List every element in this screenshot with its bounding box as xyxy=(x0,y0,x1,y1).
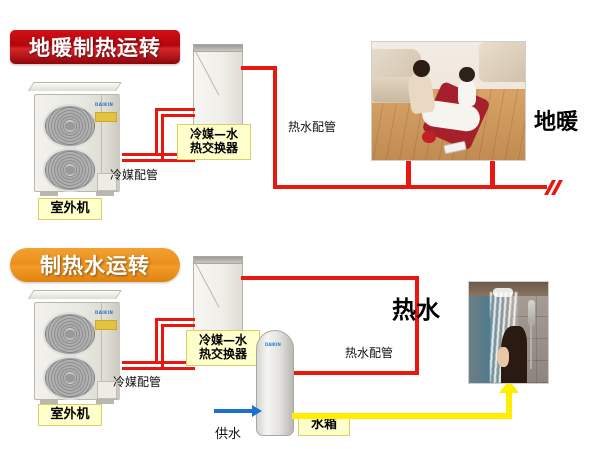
floor-heating-riser-left xyxy=(406,160,411,187)
water-tank-label-text: 水箱 xyxy=(311,418,337,433)
fan-grille-upper xyxy=(43,104,97,148)
child-body xyxy=(458,80,476,106)
photo-hot-water-shower xyxy=(468,281,549,384)
supply-water-arrow xyxy=(252,405,262,417)
hot-water-delivery-main xyxy=(292,413,512,419)
outdoor-unit-top-panel xyxy=(28,82,122,91)
shower-hose xyxy=(530,322,532,368)
label-outdoor-unit-1: 室外机 xyxy=(38,198,102,220)
unit-badge xyxy=(95,112,117,122)
refrigerant-pipe-2-horizontal-a xyxy=(122,361,195,364)
outdoor-unit-label-text: 室外机 xyxy=(50,408,89,423)
refrigerant-pipe-1-riser-a xyxy=(155,108,158,156)
hot-water-delivery-riser xyxy=(506,392,512,419)
unit-foot-right xyxy=(96,192,114,196)
brand-logo: DAIKIN xyxy=(265,342,281,347)
label-floor-heating-output: 地暖 xyxy=(534,104,578,136)
label-supply-water: 供水 xyxy=(215,423,241,442)
outdoor-unit-floor-heating: DAIKIN xyxy=(28,88,120,192)
refrigerant-pipe-2-top-b xyxy=(161,324,195,327)
hvac-operation-diagram: 地暖制热运转 DAIKIN 室外机 DAIKIN 冷媒配管 冷媒—水 热交换器 xyxy=(0,0,600,449)
supply-water-line xyxy=(214,409,254,413)
outdoor-unit-label-text: 室外机 xyxy=(50,202,89,217)
label-outdoor-unit-2: 室外机 xyxy=(38,404,102,426)
fan-grille-upper xyxy=(43,312,97,356)
outdoor-unit-body: DAIKIN xyxy=(34,302,120,400)
heat-exchanger-line2: 热交换器 xyxy=(190,142,238,156)
hot-water-pipe-1-top xyxy=(241,66,277,70)
label-heat-exchanger-1: 冷媒—水 热交换器 xyxy=(177,124,251,160)
photo-floor-heating-living-room xyxy=(371,41,526,161)
fan-grille-lower xyxy=(43,148,97,192)
refrigerant-pipe-1-top-a xyxy=(155,108,195,111)
banner-hot-water: 制热水运转 xyxy=(10,248,180,282)
label-heat-exchanger-2: 冷媒—水 热交换器 xyxy=(186,330,260,366)
refrigerant-pipe-1-top-b xyxy=(161,114,195,117)
hot-water-pipe-2-top xyxy=(241,276,419,280)
refrigerant-pipe-1-riser-b xyxy=(161,114,164,162)
child-head xyxy=(459,67,474,82)
label-refrigerant-pipe-1: 冷媒配管 xyxy=(110,166,158,183)
refrigerant-pipe-2-top-a xyxy=(155,318,195,321)
outdoor-unit-hot-water: DAIKIN xyxy=(28,296,120,400)
hot-water-pipe-2-to-tank xyxy=(289,371,419,375)
label-hot-water-pipe-1: 热水配管 xyxy=(288,118,336,135)
refrigerant-pipe-2-riser-a xyxy=(155,318,158,364)
floor-heating-riser-right xyxy=(490,160,495,187)
unit-badge xyxy=(95,320,117,330)
unit-foot-left xyxy=(40,192,58,196)
person-face xyxy=(497,347,509,367)
brand-logo: DAIKIN xyxy=(95,310,113,315)
fan-grille-lower xyxy=(43,356,97,400)
outdoor-unit-top-panel xyxy=(28,290,122,299)
brand-logo: DAIKIN xyxy=(95,102,113,107)
pipe-break-symbol xyxy=(546,180,566,196)
heat-exchanger-line1: 冷媒—水 xyxy=(199,334,247,348)
label-hot-water-pipe-2: 热水配管 xyxy=(345,344,393,361)
label-hot-water-output: 热水 xyxy=(392,290,440,325)
heat-exchanger-line2: 热交换器 xyxy=(199,348,247,362)
refrigerant-pipe-2-riser-b xyxy=(161,324,164,370)
hot-water-tank: DAIKIN xyxy=(256,330,292,434)
outdoor-unit-body: DAIKIN xyxy=(34,94,120,192)
hot-water-pipe-1-riser xyxy=(273,66,277,189)
heat-exchanger-line1: 冷媒—水 xyxy=(190,128,238,142)
sofa-right xyxy=(479,42,526,82)
label-refrigerant-pipe-2: 冷媒配管 xyxy=(113,373,161,390)
refrigerant-pipe-2-horizontal-b xyxy=(122,367,195,370)
banner-floor-heating: 地暖制热运转 xyxy=(10,30,180,64)
